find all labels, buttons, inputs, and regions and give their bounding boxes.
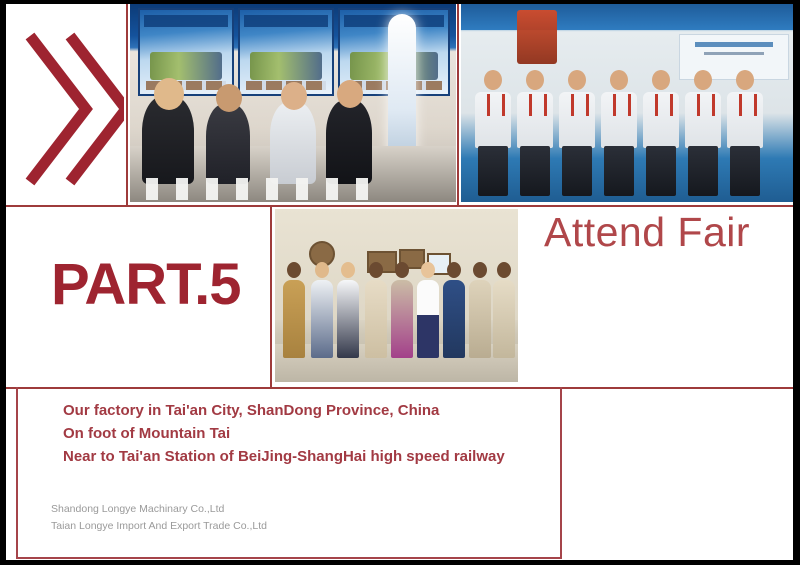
delegation-guest	[443, 262, 465, 358]
double-chevron-right-icon	[24, 30, 124, 188]
info-line-1: Our factory in Tai'an City, ShanDong Pro…	[63, 400, 543, 423]
team-member	[517, 70, 553, 196]
team-member	[475, 70, 511, 196]
page-title: PART.5	[51, 256, 241, 314]
delegation-guest	[337, 262, 359, 358]
delegation-guest	[283, 262, 305, 358]
info-line-3: Near to Tai'an Station of BeiJing-ShangH…	[63, 446, 543, 469]
delegation-guest	[311, 262, 333, 358]
divider-right	[457, 4, 459, 205]
divider-delegation-left	[270, 207, 272, 388]
booth-cups	[146, 178, 382, 200]
photo-delegation	[275, 209, 518, 382]
booth-person-1-head	[154, 78, 184, 110]
delegation-guest	[365, 262, 387, 358]
company-footer: Shandong Longye Machinary Co.,Ltd Taian …	[51, 501, 267, 535]
delegation-guest	[493, 262, 515, 358]
divider-left	[126, 4, 128, 205]
delegation-guest	[417, 262, 439, 358]
factory-location-text: Our factory in Tai'an City, ShanDong Pro…	[63, 400, 543, 468]
footer-line-1: Shandong Longye Machinary Co.,Ltd	[51, 501, 267, 518]
delegation-guest	[469, 262, 491, 358]
team-banner	[461, 4, 793, 30]
section-title: Attend Fair	[544, 212, 750, 253]
team-member	[643, 70, 679, 196]
footer-line-2: Taian Longye Import And Export Trade Co.…	[51, 518, 267, 535]
slide-canvas: PART.5 Attend Fair Our factory in Tai'an…	[6, 4, 793, 560]
team-machine-prop	[517, 10, 557, 64]
team-member	[685, 70, 721, 196]
horizontal-rule-top	[6, 205, 793, 207]
booth-person-4-head	[337, 80, 363, 108]
team-member	[727, 70, 763, 196]
photo-booth	[130, 4, 456, 202]
booth-person-2	[206, 104, 250, 184]
booth-person-3-head	[281, 82, 307, 110]
booth-person-3	[270, 102, 316, 184]
booth-poster-1	[138, 8, 234, 96]
team-member	[559, 70, 595, 196]
photo-team	[461, 4, 793, 202]
info-line-2: On foot of Mountain Tai	[63, 423, 543, 446]
booth-person-4	[326, 100, 372, 184]
booth-person-2-head	[216, 84, 242, 112]
booth-poster-2	[238, 8, 334, 96]
team-member	[601, 70, 637, 196]
delegation-guest	[391, 262, 413, 358]
